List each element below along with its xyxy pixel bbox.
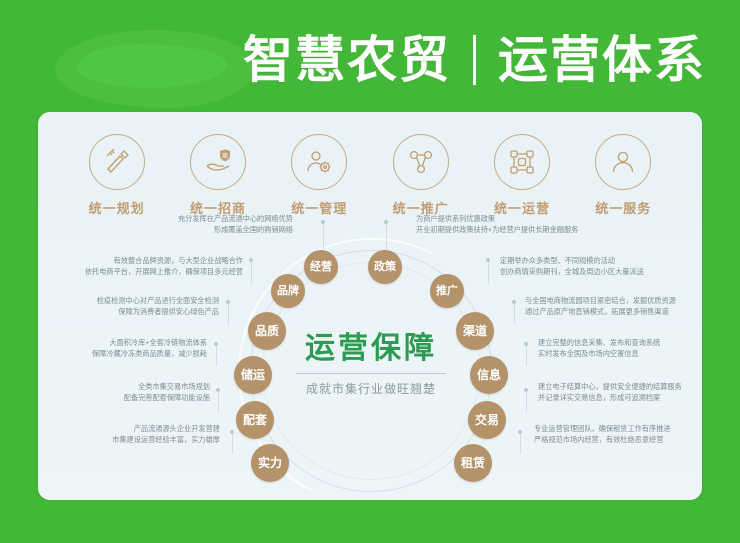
note-right-5: 专业运营管理团队，确保租赁工作有序推进 严格规范市场内经营，有效杜绝恶意经营: [534, 424, 702, 445]
keyword-bubble-peitao[interactable]: 配套: [236, 401, 274, 439]
note-left-4: 全类市集交易市场规划 配备完善配套保障功能设施: [38, 382, 210, 403]
note-right-3: 建立完整的信息采集、发布和查询系统 实时发布全国及市场内空置信息: [538, 338, 702, 359]
keyword-bubble-zulin[interactable]: 租赁: [454, 444, 492, 482]
connector-line: [251, 262, 252, 284]
center-subtitle: 成就市集行业做旺翘楚: [288, 380, 454, 397]
connector-dot: [230, 430, 234, 434]
connector-dot: [226, 300, 230, 304]
connector-line: [216, 346, 217, 366]
connector-dot: [512, 300, 516, 304]
connector-line: [323, 224, 324, 250]
person-gear-icon: [291, 134, 347, 190]
capability-item-service[interactable]: 统一服务: [575, 134, 671, 217]
node-network-icon: [494, 134, 550, 190]
capability-icon-row: 统一规划 商 统一招商: [38, 134, 702, 226]
title-divider: [473, 35, 476, 85]
keyword-bubble-xinxi[interactable]: 信息: [470, 356, 508, 394]
keyword-bubble-jingying[interactable]: 经营: [304, 250, 338, 284]
capability-item-management[interactable]: 统一管理: [271, 134, 367, 217]
capability-item-planning[interactable]: 统一规划: [69, 134, 165, 217]
note-left-5: 产品流通源头企业开发营建 市集建设运营经验丰富，实力雄厚: [38, 424, 220, 445]
keyword-bubble-tuiguang[interactable]: 推广: [430, 274, 464, 308]
connector-dot: [216, 388, 220, 392]
connector-line: [228, 304, 229, 324]
content-card: 统一规划 商 统一招商: [38, 112, 702, 500]
capability-item-operations[interactable]: 统一运营: [474, 134, 570, 217]
connector-dot: [214, 342, 218, 346]
connector-dot: [249, 258, 253, 262]
connector-line: [218, 392, 219, 412]
page-subtitle: 运营体系: [498, 29, 706, 91]
connector-line: [232, 434, 233, 454]
connector-dot: [486, 258, 490, 262]
center-label-group: 运营保障 成就市集行业做旺翘楚: [288, 332, 454, 397]
connector-dot: [384, 220, 388, 224]
note-left-2: 检疫检测中心对产品进行全面安全检测 保障为消费者提供安心绿色产品: [38, 296, 219, 317]
keyword-bubble-zhengce[interactable]: 政策: [368, 250, 402, 284]
keyword-bubble-jiaoyi[interactable]: 交易: [468, 401, 506, 439]
connector-line: [526, 346, 527, 366]
note-left-3: 大面积冷库+全套冷链物流体系 保障冷藏冷冻类商品质量，减少损耗: [38, 338, 207, 359]
svg-text:商: 商: [222, 152, 228, 160]
note-left-1: 有效整合品牌资源，与大型企业战略合作 依托电商平台，开展网上推介，确保项目多元经…: [38, 256, 243, 277]
connector-line: [514, 304, 515, 324]
connector-dot: [321, 220, 325, 224]
header-title-group: 智慧农贸 运营体系: [243, 26, 706, 94]
center-divider: [296, 373, 446, 374]
keyword-bubble-chuyun[interactable]: 储运: [234, 356, 272, 394]
keyword-bubble-pinpai[interactable]: 品牌: [271, 274, 305, 308]
note-right-2: 与全国电商物流园项目紧密结合，发掘优质资源 通过产品原产地直销模式，拓展更多销售…: [525, 296, 702, 317]
note-top-left: 充分发挥在产品流通中心的网络优势 形成覆盖全国的购销网络: [48, 214, 293, 235]
note-right-1: 定期举办众多类型、不同规模的活动 创办商情采购期刊，全城及周边小区大量派送: [500, 256, 702, 277]
person-icon: [595, 134, 651, 190]
brand-logo-blob: [55, 30, 255, 108]
connector-line: [526, 392, 527, 412]
note-right-4: 建立电子结算中心，提供安全便捷的结算服务 并记录详实交易信息，形成可追溯档案: [538, 382, 702, 403]
page-header: 智慧农贸 运营体系: [0, 0, 740, 112]
keyword-bubble-qudao[interactable]: 渠道: [456, 312, 494, 350]
connector-line: [520, 434, 521, 454]
connector-line: [488, 262, 489, 284]
note-top-right: 为商户提供系列优惠政策 开业初期提供政策扶持+为经营户提供长期金融服务: [416, 214, 696, 235]
megaphone-network-icon: [393, 134, 449, 190]
connector-dot: [524, 342, 528, 346]
center-title: 运营保障: [288, 332, 454, 366]
page-title: 智慧农贸: [243, 29, 451, 91]
hand-badge-icon: 商: [190, 134, 246, 190]
keyword-bubble-shili[interactable]: 实力: [251, 444, 289, 482]
connector-dot: [524, 388, 528, 392]
footer-strip: [0, 500, 740, 543]
capability-item-investment[interactable]: 商 统一招商: [170, 134, 266, 217]
connector-line: [386, 224, 387, 250]
ruler-pencil-icon: [89, 134, 145, 190]
operations-diagram: 运营保障 成就市集行业做旺翘楚 经营 政策 充分发挥在产品流通中心的网络优势 形…: [38, 216, 702, 500]
capability-item-promotion[interactable]: 统一推广: [373, 134, 469, 217]
connector-dot: [518, 430, 522, 434]
keyword-bubble-pinzhi[interactable]: 品质: [248, 312, 286, 350]
